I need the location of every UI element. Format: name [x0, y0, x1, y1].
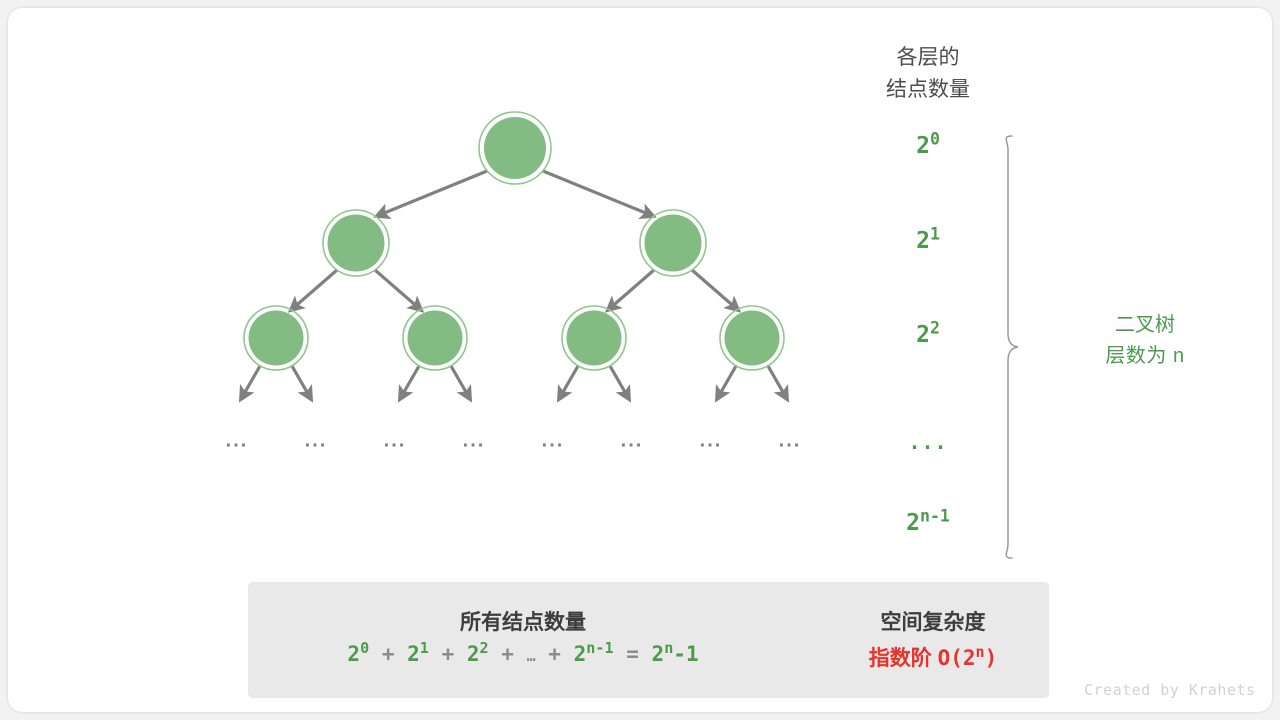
- formula-term-2-exp: 1: [420, 639, 429, 657]
- brace-label-line2: 层数为 n: [1030, 341, 1260, 372]
- level-count-n-base: 2: [906, 510, 920, 536]
- tree-node-l3-0: [244, 306, 308, 370]
- formula-result-base: 2: [652, 642, 665, 666]
- edge-l3-0-left: [241, 366, 260, 399]
- diagram-card: 各层的 结点数量 20 21 22 ... 2n-1 二叉树 层数为 n ...…: [8, 8, 1272, 712]
- brace-label: 二叉树 层数为 n: [1030, 310, 1260, 372]
- edge-l2-1-to-l3-3: [692, 270, 738, 310]
- edge-l3-0-right: [292, 366, 311, 399]
- formula-term-3-exp: 2: [480, 639, 489, 657]
- complexity-prefix: 指数阶: [869, 647, 932, 670]
- edge-l3-2-left: [559, 366, 578, 399]
- complexity-exponent: n: [976, 643, 985, 661]
- total-nodes-formula: 20 + 21 + 22 + … + 2n-1 = 2n-1: [258, 642, 788, 666]
- edge-root-to-l2-1: [543, 171, 653, 216]
- complexity-suffix: ): [985, 646, 998, 670]
- complexity-notation: O(2: [938, 646, 976, 670]
- tree-node-l3-1: [403, 306, 467, 370]
- leaf-ellipsis-5: ...: [542, 430, 565, 453]
- edge-l3-2-right: [610, 366, 629, 399]
- level-count-ellipsis: ...: [848, 430, 1008, 454]
- tree-nodes: [244, 112, 784, 370]
- formula-term-3-base: 2: [467, 642, 480, 666]
- tree-node-root: [479, 112, 551, 184]
- level-count-3-base: 2: [916, 322, 930, 348]
- level-count-1-exponent: 0: [930, 129, 940, 148]
- edge-l2-1-to-l3-2: [608, 270, 654, 310]
- edge-l3-3-right: [768, 366, 787, 399]
- brace-label-line1: 二叉树: [1030, 310, 1260, 341]
- level-count-3-exponent: 2: [930, 318, 940, 337]
- level-count-n: 2n-1: [848, 510, 1008, 536]
- leaf-ellipsis-2: ...: [305, 430, 328, 453]
- tree-node-l3-3: [720, 306, 784, 370]
- level-count-n-exponent: n-1: [920, 506, 950, 525]
- level-count-3: 22: [848, 322, 1008, 348]
- formula-term-2-base: 2: [407, 642, 420, 666]
- total-nodes-title: 所有结点数量: [258, 606, 788, 636]
- formula-term-1-exp: 0: [360, 639, 369, 657]
- formula-plus-2: +: [442, 642, 455, 666]
- edge-l3-1-left: [400, 366, 419, 399]
- leaf-ellipsis-6: ...: [621, 430, 644, 453]
- formula-plus-3: +: [501, 642, 514, 666]
- level-count-1: 20: [848, 133, 1008, 159]
- formula-plus-4: +: [548, 642, 561, 666]
- levels-header-line2: 结点数量: [848, 74, 1008, 106]
- formula-term-1-base: 2: [347, 642, 360, 666]
- formula-result-suffix: -1: [673, 642, 698, 666]
- space-complexity-value: 指数阶 O(2n): [828, 642, 1038, 672]
- level-count-2-base: 2: [916, 228, 930, 254]
- edge-l2-0-to-l3-1: [375, 270, 421, 310]
- leaf-ellipsis-8: ...: [779, 430, 802, 453]
- formula-plus-1: +: [382, 642, 395, 666]
- formula-equals: =: [626, 642, 639, 666]
- formula-result-exp: n: [664, 639, 673, 657]
- formula-last-term-base: 2: [574, 642, 587, 666]
- leaf-ellipsis-1: ...: [226, 430, 249, 453]
- tree-node-l2-1: [640, 210, 706, 276]
- formula-last-term-exp: n-1: [586, 639, 613, 657]
- space-complexity-title: 空间复杂度: [828, 606, 1038, 636]
- level-count-1-base: 2: [916, 133, 930, 159]
- level-count-2-exponent: 1: [930, 224, 940, 243]
- edge-l2-0-to-l3-0: [291, 270, 337, 310]
- level-count-2: 21: [848, 228, 1008, 254]
- leaf-ellipsis-3: ...: [384, 430, 407, 453]
- levels-header-line1: 各层的: [848, 42, 1008, 74]
- edge-l3-3-left: [717, 366, 736, 399]
- tree-edges: [241, 171, 787, 399]
- edge-l3-1-right: [451, 366, 470, 399]
- tree-node-l3-2: [562, 306, 626, 370]
- credit-text: Created by Krahets: [1084, 681, 1256, 699]
- edge-root-to-l2-0: [377, 171, 487, 216]
- leaf-ellipsis-4: ...: [463, 430, 486, 453]
- formula-ellipsis: …: [527, 647, 536, 665]
- page-background: 各层的 结点数量 20 21 22 ... 2n-1 二叉树 层数为 n ...…: [0, 0, 1280, 720]
- leaf-ellipsis-7: ...: [700, 430, 723, 453]
- tree-node-l2-0: [323, 210, 389, 276]
